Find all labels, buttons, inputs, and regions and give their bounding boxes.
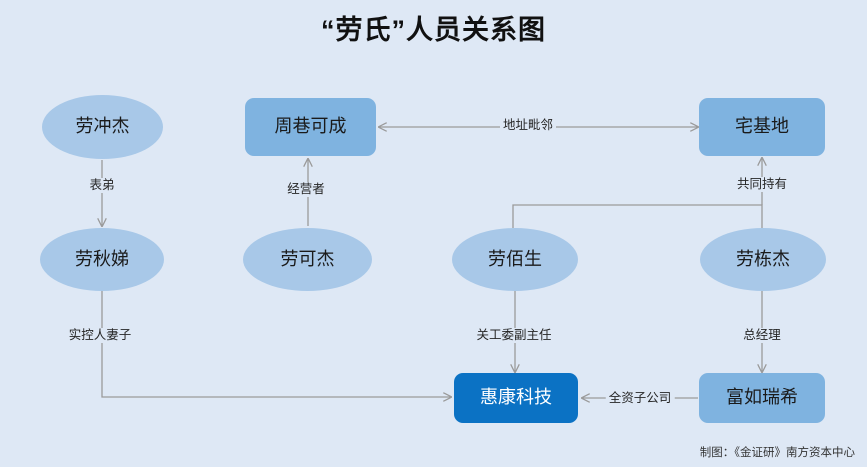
node-lao-qiu-di[interactable]: 劳秋娣 <box>40 228 164 291</box>
diagram-canvas: “劳氏”人员关系图 劳冲杰 周巷可成 宅基地 劳秋娣 劳可杰 <box>0 0 867 467</box>
credit-text: 制图：《金证研》南方资本中心 <box>700 444 855 460</box>
node-label: 劳栋杰 <box>736 250 790 270</box>
edge-label-gong-tong-chi-you: 共同持有 <box>734 177 790 192</box>
node-zhai-ji-di[interactable]: 宅基地 <box>699 98 825 156</box>
node-label: 宅基地 <box>735 117 789 137</box>
edge-label-zong-jing-li: 总经理 <box>740 328 784 343</box>
edge-label-jing-ying-zhe: 经营者 <box>284 182 328 197</box>
edge-label-guan-gong-wei: 关工委副主任 <box>473 328 554 343</box>
node-fu-ru-rui-xi[interactable]: 富如瑞希 <box>699 373 825 423</box>
node-label: 劳秋娣 <box>75 250 129 270</box>
node-label: 劳可杰 <box>281 250 335 270</box>
node-label: 周巷可成 <box>275 117 347 137</box>
node-lao-dong-jie[interactable]: 劳栋杰 <box>700 228 826 291</box>
node-hui-kang-ke-ji[interactable]: 惠康科技 <box>454 373 578 423</box>
edge-shi-kong-ren-qi-zi <box>102 291 451 397</box>
edge-label-biao-di: 表弟 <box>86 178 117 193</box>
node-label: 劳冲杰 <box>76 117 130 137</box>
node-zhou-xiang-ke-cheng[interactable]: 周巷可成 <box>245 98 376 156</box>
node-lao-chong-jie[interactable]: 劳冲杰 <box>42 95 163 159</box>
node-lao-bai-sheng[interactable]: 劳佰生 <box>452 228 578 291</box>
edge-label-quan-zi-zi-gong-si: 全资子公司 <box>606 391 675 406</box>
edge-label-di-zhi-pi-lin: 地址毗邻 <box>500 118 556 133</box>
node-lao-ke-jie[interactable]: 劳可杰 <box>243 228 372 291</box>
node-label: 惠康科技 <box>480 388 552 408</box>
edge-gong-tong-chi-you-dong <box>513 205 762 228</box>
node-label: 劳佰生 <box>488 250 542 270</box>
edge-label-shi-kong-ren-qi-zi: 实控人妻子 <box>66 328 135 343</box>
node-label: 富如瑞希 <box>726 388 798 408</box>
